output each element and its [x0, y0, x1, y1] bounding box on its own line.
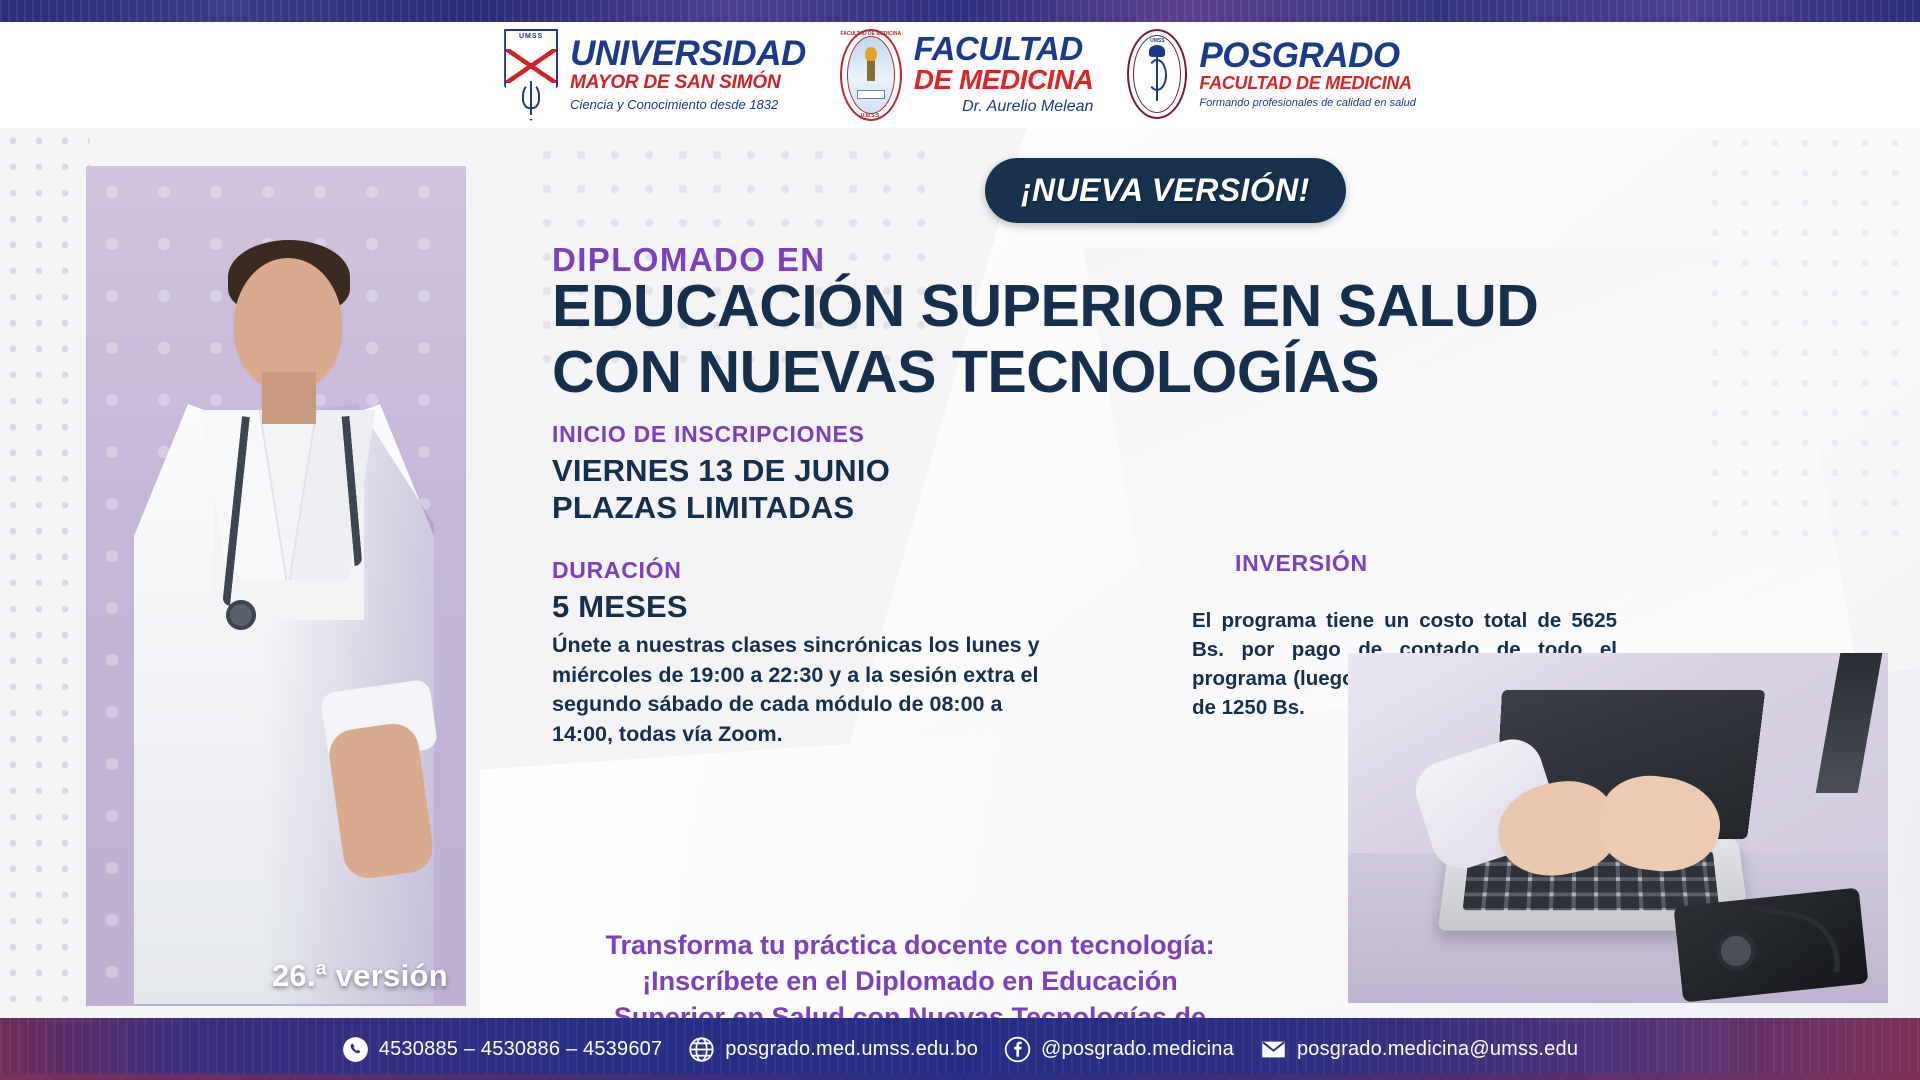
version-word: versión: [327, 958, 448, 993]
footer-facebook-text: @posgrado.medicina: [1041, 1038, 1234, 1061]
stethoscope-icon: [226, 416, 366, 636]
facultad-seal-icon: FACULTAD DE MEDICINA U.M.S.S.: [840, 29, 902, 121]
umss-pennant-icon: UMSS: [504, 29, 558, 121]
umss-wordmark: UNIVERSIDAD MAYOR DE SAN SIMÓN Ciencia y…: [570, 36, 806, 114]
top-decor-bar: [0, 0, 1920, 22]
posgrado-line2: FACULTAD DE MEDICINA: [1199, 73, 1415, 95]
header-logos: UMSS UNIVERSIDAD MAYOR DE SAN SIMÓN Cien…: [0, 22, 1920, 128]
facultad-line3: Dr. Aurelio Melean: [914, 96, 1094, 118]
facultad-line1: FACULTAD: [914, 32, 1094, 65]
label-duracion: DURACIÓN: [552, 557, 682, 584]
footer-facebook[interactable]: @posgrado.medicina: [1004, 1036, 1234, 1063]
facultad-seal-bottom-text: U.M.S.S.: [840, 113, 902, 119]
laptop-photo: [1348, 653, 1888, 1003]
doctor-photo: 26.a versión: [86, 166, 466, 1006]
schedule-text: Únete a nuestras clases sincrónicas los …: [552, 631, 1052, 750]
stethoscope-icon-2: [1704, 905, 1854, 993]
posgrado-line1: POSGRADO: [1199, 38, 1415, 73]
bg-dots-right: [1700, 128, 1920, 558]
value-duracion: 5 MESES: [552, 589, 688, 626]
footer-phone-text: 4530885 – 4530886 – 4539607: [379, 1038, 662, 1061]
logo-posgrado: UMSS POSGRADO FACULTAD DE MEDICINA Forma…: [1127, 29, 1415, 121]
globe-icon: [688, 1036, 715, 1063]
posgrado-line3: Formando profesionales de calidad en sal…: [1199, 95, 1415, 112]
footer-phone[interactable]: 4530885 – 4530886 – 4539607: [342, 1036, 662, 1063]
page-title-line1: EDUCACIÓN SUPERIOR EN SALUD: [552, 276, 1538, 336]
envelope-icon: [1260, 1036, 1287, 1063]
posgrado-seal-icon: UMSS: [1127, 29, 1187, 121]
bg-dots-left: [0, 128, 90, 1018]
posgrado-wordmark: POSGRADO FACULTAD DE MEDICINA Formando p…: [1199, 38, 1415, 111]
facultad-seal-top-text: FACULTAD DE MEDICINA: [840, 31, 902, 37]
umss-line3: Ciencia y Conocimiento desde 1832: [570, 95, 806, 115]
umss-line1: UNIVERSIDAD: [570, 36, 806, 71]
umss-line2: MAYOR DE SAN SIMÓN: [570, 71, 806, 95]
logo-facultad-medicina: FACULTAD DE MEDICINA U.M.S.S. FACULTAD D…: [840, 29, 1094, 121]
version-ordinal: a: [316, 959, 327, 980]
posgrado-seal-label: UMSS: [1127, 38, 1187, 44]
footer-email[interactable]: posgrado.medicina@umss.edu: [1260, 1036, 1578, 1063]
phone-icon: [342, 1036, 369, 1063]
contact-footer: 4530885 – 4530886 – 4539607 posgrado.med…: [0, 1018, 1920, 1080]
poster-body: 26.a versión ¡NUEVA VERSIÓN! DIPLOMADO E…: [0, 128, 1920, 1018]
nueva-version-badge: ¡NUEVA VERSIÓN!: [985, 158, 1346, 223]
page-title-line2: CON NUEVAS TECNOLOGÍAS: [552, 342, 1379, 402]
version-number: 26.: [272, 958, 316, 993]
footer-website[interactable]: posgrado.med.umss.edu.bo: [688, 1036, 978, 1063]
footer-website-text: posgrado.med.umss.edu.bo: [725, 1038, 978, 1061]
value-inicio-inscripciones: VIERNES 13 DE JUNIO PLAZAS LIMITADAS: [552, 453, 890, 526]
label-inicio-inscripciones: INICIO DE INSCRIPCIONES: [552, 421, 865, 448]
logo-umss: UMSS UNIVERSIDAD MAYOR DE SAN SIMÓN Cien…: [504, 29, 806, 121]
bottom-decor-strip: [0, 1074, 1920, 1080]
call-to-action-text: Transforma tu práctica docente con tecno…: [600, 928, 1220, 1018]
facultad-line2: DE MEDICINA: [914, 65, 1094, 96]
facultad-wordmark: FACULTAD DE MEDICINA Dr. Aurelio Melean: [914, 32, 1094, 118]
umss-mark-text: UMSS: [504, 33, 558, 40]
label-inversion: INVERSIÓN: [1235, 550, 1368, 577]
version-badge: 26.a versión: [272, 958, 448, 994]
facebook-icon: [1004, 1036, 1031, 1063]
footer-email-text: posgrado.medicina@umss.edu: [1297, 1038, 1578, 1061]
